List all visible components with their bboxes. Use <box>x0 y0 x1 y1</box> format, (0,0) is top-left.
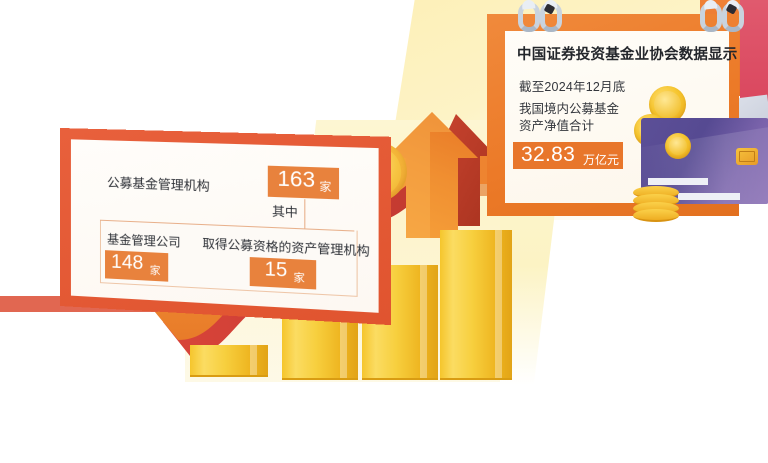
left-card-row2-label-1: 基金管理公司 <box>107 230 181 251</box>
credit-card-stripe <box>648 178 708 185</box>
right-card-description-line1: 我国境内公募基金 <box>519 101 623 118</box>
left-card-row1-label: 公募基金管理机构 <box>107 172 210 195</box>
right-card-description-line2: 资产净值合计 <box>519 118 623 135</box>
right-card-date: 截至2024年12月底 <box>519 76 625 95</box>
coin-stack-front-card <box>633 186 679 220</box>
credit-card-stripe <box>678 193 740 200</box>
public-fund-institutions-card: 公募基金管理机构 163 家 其中 基金管理公司 148 家 取得公募资格的资产… <box>60 128 391 325</box>
left-card-row2-unit-1: 家 <box>150 262 161 278</box>
left-card-row1-value: 163 <box>277 167 315 193</box>
right-card-highlight-value: 32.83 <box>521 143 575 167</box>
right-card-description: 我国境内公募基金 资产净值合计 <box>519 101 623 135</box>
left-card-row2-unit-2: 家 <box>294 270 305 286</box>
coin-stack-bar-4 <box>440 230 512 378</box>
left-card-row1-unit: 家 <box>319 178 331 195</box>
right-card-highlight-unit: 万亿元 <box>583 151 619 168</box>
infographic-canvas: 公募基金管理机构 163 家 其中 基金管理公司 148 家 取得公募资格的资产… <box>0 0 768 463</box>
left-card-divider-label: 其中 <box>272 202 298 221</box>
left-card-connector-vertical <box>304 199 306 228</box>
left-card-row2-value-1: 148 <box>111 251 143 275</box>
right-card-title: 中国证券投资基金业协会数据显示 <box>517 43 727 64</box>
coin-stack-bar-1 <box>190 345 268 377</box>
card-chip-icon <box>736 148 758 165</box>
left-card-row2-value-2: 15 <box>265 259 288 283</box>
gold-coin-icon <box>665 133 691 159</box>
